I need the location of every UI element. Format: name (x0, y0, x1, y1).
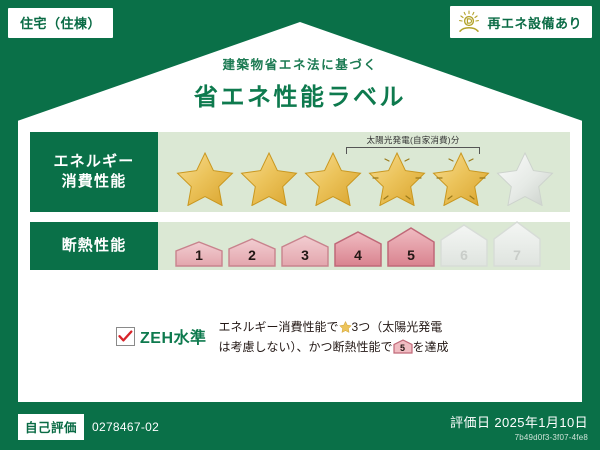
zeh-desc-stars: 3つ（太陽光発電 (352, 320, 443, 334)
energy-label-root: 住宅（住棟） 再エネ設備あり 建築物省エネ法に基づく (0, 0, 600, 450)
label-main-title: 省エネ性能ラベル (0, 77, 600, 112)
energy-row-label-line1: エネルギー (53, 152, 134, 172)
zeh-standard-section: ZEH水準 エネルギー消費性能で3つ（太陽光発電は考慮しない）、かつ断熱性能で5… (116, 318, 449, 358)
solar-annotation: 太陽光発電(自家消費)分 (346, 134, 480, 154)
footer-right-group: 評価日 2025年1月10日 7b49d0f3-3f07-4fe8 (450, 412, 588, 442)
energy-row-label-line2: 消費性能 (62, 172, 127, 192)
star-4-solar (366, 148, 428, 206)
insulation-level-6: 6 (439, 224, 489, 267)
energy-consumption-row: エネルギー 消費性能 太陽光発電(自家消費)分 (30, 132, 570, 212)
evaluation-date: 評価日 2025年1月10日 (450, 412, 588, 431)
energy-row-label: エネルギー 消費性能 (30, 132, 158, 212)
zeh-description: エネルギー消費性能で3つ（太陽光発電は考慮しない）、かつ断熱性能で5を達成 (219, 318, 449, 358)
insulation-level-4-number: 4 (333, 247, 383, 263)
insulation-level-3-number: 3 (280, 247, 330, 263)
energy-star-rating (174, 148, 556, 206)
insulation-level-7-number: 7 (492, 247, 542, 263)
zeh-desc-part2: は考慮しない）、かつ断熱性能で (219, 340, 393, 354)
evaluation-date-label: 評価日 (450, 415, 490, 430)
star-6-empty (494, 148, 556, 206)
insulation-level-7: 7 (492, 221, 542, 267)
insulation-level-2-number: 2 (227, 247, 277, 263)
zeh-desc-part3: を達成 (413, 340, 449, 354)
renewable-chip-label: 再エネ設備あり (487, 13, 582, 32)
zeh-desc-part1: エネルギー消費性能で (219, 320, 339, 334)
solar-annotation-text: 太陽光発電(自家消費)分 (346, 134, 480, 146)
insulation-row-body: 1 2 (158, 222, 570, 270)
solar-annotation-bracket (346, 147, 480, 154)
zeh-badge: ZEH水準 (116, 318, 207, 348)
insulation-level-2: 2 (227, 238, 277, 267)
inline-level-number: 5 (393, 341, 413, 356)
star-5-solar (430, 148, 492, 206)
renewable-equipment-chip: 再エネ設備あり (450, 6, 592, 38)
energy-row-body: 太陽光発電(自家消費)分 (158, 132, 570, 212)
evaluation-date-value: 2025年1月10日 (494, 415, 588, 430)
insulation-row-label: 断熱性能 (30, 222, 158, 270)
insulation-level-5-number: 5 (386, 247, 436, 263)
star-3 (302, 148, 364, 206)
insulation-level-5: 5 (386, 227, 436, 267)
label-uuid: 7b49d0f3-3f07-4fe8 (450, 433, 588, 442)
label-footer: 自己評価 0278467-02 評価日 2025年1月10日 7b49d0f3-… (0, 402, 600, 450)
insulation-level-1-number: 1 (174, 247, 224, 263)
insulation-level-scale: 1 2 (174, 221, 542, 267)
insulation-level-4: 4 (333, 231, 383, 267)
evaluation-type-badge: 自己評価 (18, 414, 84, 440)
insulation-performance-row: 断熱性能 1 (30, 222, 570, 270)
certificate-number: 0278467-02 (92, 420, 159, 434)
star-1 (174, 148, 236, 206)
insulation-level-3: 3 (280, 235, 330, 267)
label-subtitle: 建築物省エネ法に基づく (0, 54, 600, 73)
zeh-checkbox[interactable] (116, 327, 135, 346)
solar-sun-icon (456, 10, 482, 34)
star-2 (238, 148, 300, 206)
footer-left-group: 自己評価 0278467-02 (18, 414, 159, 440)
insulation-level-6-number: 6 (439, 247, 489, 263)
building-type-chip: 住宅（住棟） (8, 8, 113, 38)
zeh-label: ZEH水準 (140, 324, 207, 348)
title-block: 建築物省エネ法に基づく 省エネ性能ラベル (0, 54, 600, 112)
inline-insulation-level-badge: 5 (393, 339, 413, 354)
inline-star-icon (339, 320, 352, 333)
insulation-level-1: 1 (174, 241, 224, 267)
performance-rows: エネルギー 消費性能 太陽光発電(自家消費)分 (30, 132, 570, 280)
